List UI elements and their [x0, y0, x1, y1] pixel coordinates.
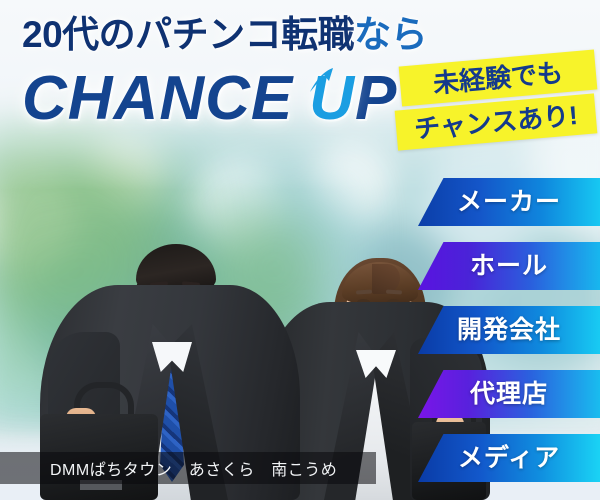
experience-badge: 未経験でも チャンスあり! [396, 56, 596, 156]
credit-text: DMMぱちタウン あさくら 南こうめ [0, 456, 337, 480]
logo-word-up: UP [309, 64, 397, 133]
businessman-figure [40, 150, 300, 500]
credit-strip: DMMぱちタウン あさくら 南こうめ [0, 452, 376, 484]
logo-chance-up: CHANCEUP [22, 68, 397, 130]
category-button-maker[interactable]: メーカー [418, 178, 600, 226]
category-button-developer[interactable]: 開発会社 [418, 306, 600, 354]
logo-word-chance: CHANCE [22, 64, 293, 133]
category-button-agency[interactable]: 代理店 [418, 370, 600, 418]
advertisement-banner[interactable]: 20代のパチンコ転職なら CHANCEUP 未経験でも チャンスあり! メーカー… [0, 0, 600, 500]
category-list: メーカー ホール 開発会社 代理店 メディア [418, 178, 600, 490]
logo-letter-u: U [309, 64, 355, 133]
logo-letter-p: P [355, 64, 397, 133]
headline-tail: なら [354, 14, 427, 55]
headline: 20代のパチンコ転職なら [22, 16, 427, 53]
category-button-media[interactable]: メディア [418, 434, 600, 482]
category-button-hall[interactable]: ホール [418, 242, 600, 290]
headline-main: 20代のパチンコ転職 [22, 14, 354, 55]
